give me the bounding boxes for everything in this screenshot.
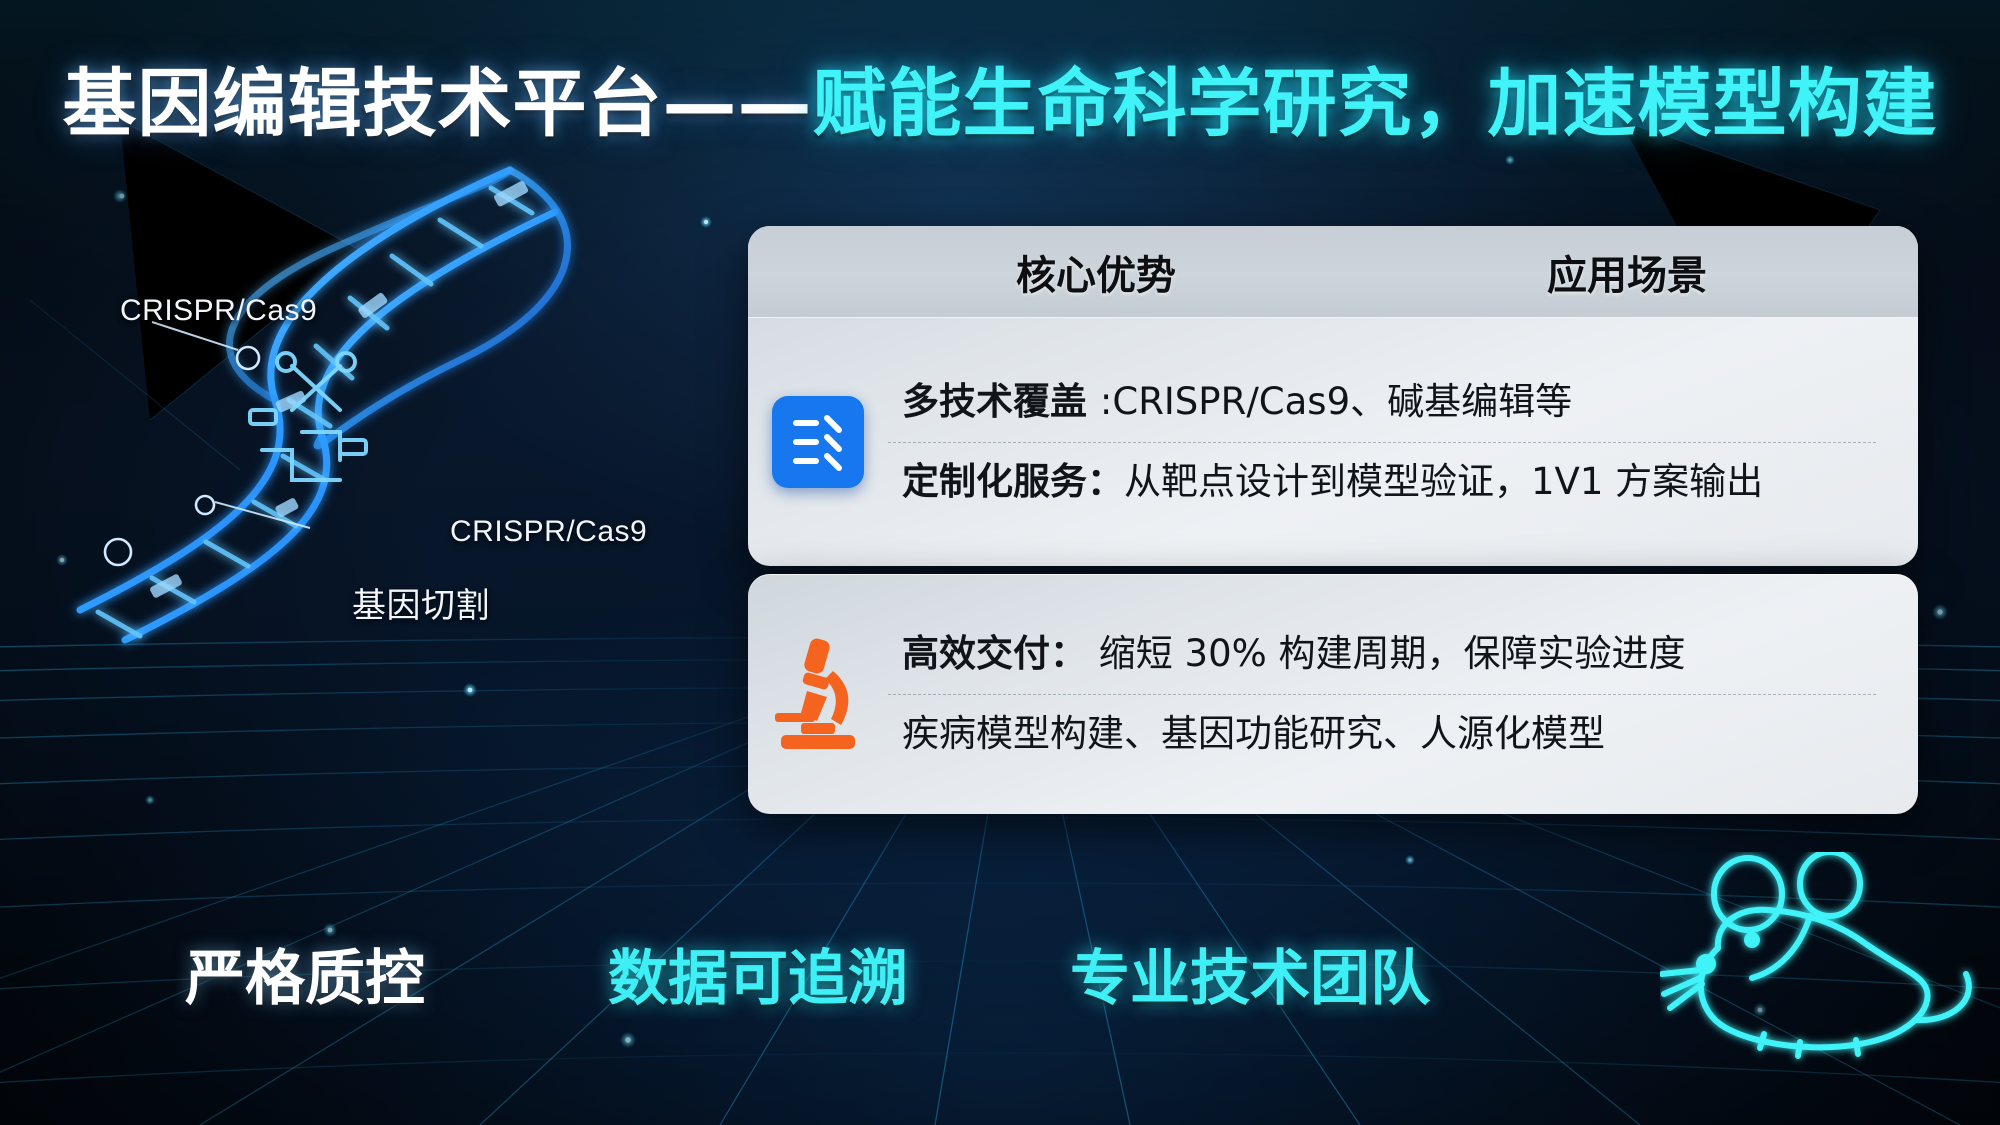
row-custom-service-text: 从靶点设计到模型验证，1V1 方案输出 [1124, 460, 1763, 503]
delivery-card: 高效交付： 缩短 30% 构建周期，保障实验进度 疾病模型构建、基因功能研究、人… [748, 574, 1918, 814]
document-list-icon [772, 396, 864, 488]
document-list-icon-glyph [772, 396, 864, 488]
microscope-icon [763, 635, 873, 753]
tagline-item-0: 严格质控 [185, 930, 425, 1017]
row-efficient-delivery-label: 高效交付： [902, 632, 1087, 675]
tagline-item-1: 数据可追溯 [608, 930, 908, 1017]
slide-canvas: 基因编辑技术平台——赋能生命科学研究，加速模型构建 [0, 0, 2000, 1125]
row-multi-tech-text: :CRISPR/Cas9、碱基编辑等 [1100, 380, 1572, 423]
row-application-list-text: 疾病模型构建、基因功能研究、人源化模型 [902, 712, 1605, 755]
row-multi-tech: 多技术覆盖 :CRISPR/Cas9、碱基编辑等 [888, 363, 1876, 442]
mouse-icon [1660, 852, 1990, 1082]
advantages-card: 核心优势 应用场景 [748, 226, 1918, 566]
title-segment-primary: 基因编辑技术平台—— [63, 61, 813, 147]
microscope-icon-cell [748, 574, 888, 814]
row-custom-service-label: 定制化服务： [902, 460, 1124, 503]
content-panel: 核心优势 应用场景 [748, 0, 1918, 1000]
delivery-rows: 高效交付： 缩短 30% 构建周期，保障实验进度 疾病模型构建、基因功能研究、人… [888, 574, 1918, 814]
tagline-item-2: 专业技术团队 [1070, 930, 1430, 1017]
card-header-row: 核心优势 应用场景 [748, 226, 1918, 318]
document-list-icon-cell [748, 318, 888, 566]
dna-label-crispr-mid: CRISPR/Cas9 [450, 515, 647, 549]
row-multi-tech-label: 多技术覆盖 [902, 380, 1100, 423]
row-custom-service: 定制化服务：从靶点设计到模型验证，1V1 方案输出 [888, 443, 1876, 521]
dna-label-gene-cut: 基因切割 [352, 578, 490, 627]
row-efficient-delivery: 高效交付： 缩短 30% 构建周期，保障实验进度 [888, 615, 1876, 694]
advantages-rows: 多技术覆盖 :CRISPR/Cas9、碱基编辑等 定制化服务：从靶点设计到模型验… [888, 318, 1918, 566]
row-efficient-delivery-text: 缩短 30% 构建周期，保障实验进度 [1087, 632, 1686, 675]
delivery-card-body: 高效交付： 缩短 30% 构建周期，保障实验进度 疾病模型构建、基因功能研究、人… [748, 574, 1918, 814]
header-application-scenarios: 应用场景 [1392, 243, 1862, 301]
advantages-card-body: 多技术覆盖 :CRISPR/Cas9、碱基编辑等 定制化服务：从靶点设计到模型验… [748, 318, 1918, 566]
row-application-list: 疾病模型构建、基因功能研究、人源化模型 [888, 695, 1876, 773]
header-core-advantages: 核心优势 [836, 243, 1356, 301]
dna-label-crispr-top: CRISPR/Cas9 [120, 294, 317, 328]
